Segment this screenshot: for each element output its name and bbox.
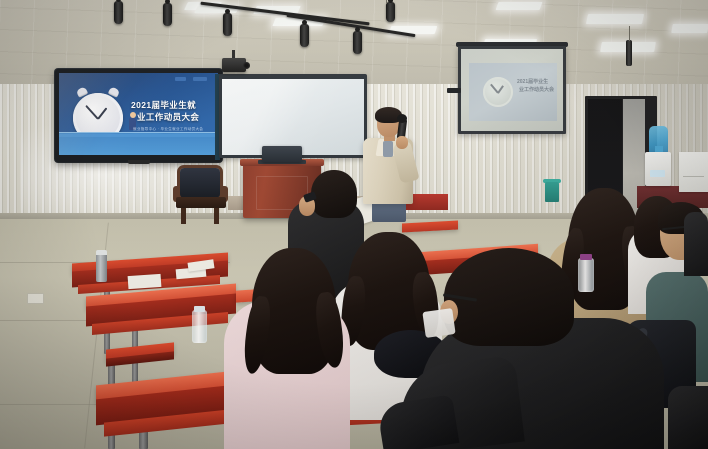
bottle-cap (580, 254, 592, 260)
water-bottle (578, 258, 594, 292)
mic-hang-wire (386, 0, 387, 4)
spotlight-fixture (114, 1, 123, 24)
microphone-head (397, 114, 407, 123)
spotlight-fixture (353, 31, 362, 54)
whiteboard-surface (222, 79, 364, 155)
bottle-cap (194, 306, 205, 312)
water-dispenser[interactable] (645, 152, 671, 186)
student-body (668, 386, 708, 449)
water-bottle (192, 310, 207, 343)
ceiling-light-panel (496, 2, 543, 10)
trash-bin (545, 182, 559, 202)
paper-sheet (128, 274, 162, 289)
projector-lens (243, 62, 250, 69)
projected-clock-graphic (483, 77, 513, 107)
student-hair (311, 170, 357, 218)
projected-title-line2: 业工作动员大会 (519, 87, 554, 94)
presenter-shirt (383, 141, 393, 157)
projection-screen: 2021届毕业生 业工作动员大会 (458, 46, 566, 134)
student-body (684, 212, 708, 276)
thermos-cap (96, 250, 107, 255)
cabinet-seam (683, 176, 704, 177)
screen-glare (59, 73, 218, 155)
screen-wall-bracket (447, 88, 461, 93)
projected-title-line1: 2021届毕业生 (517, 79, 548, 86)
whiteboard-glare (222, 79, 364, 155)
laptop[interactable] (262, 146, 302, 162)
thermos-flask (96, 252, 107, 282)
spotlight-fixture (163, 3, 172, 26)
chair-seat (176, 197, 226, 208)
ceiling-light-panel (671, 24, 708, 33)
guest-chair[interactable] (180, 168, 220, 198)
lecture-hall-photo: 2021届毕业生就 业工作动员大会 就业指导中心 · 毕业生就业工作动员大会 2… (0, 0, 708, 449)
spotlight-fixture (386, 2, 395, 22)
projected-slide: 2021届毕业生 业工作动员大会 (469, 63, 557, 121)
projection-surface: 2021届毕业生 业工作动员大会 (461, 49, 563, 131)
mic-hang-wire (629, 26, 630, 41)
chair-leg (214, 206, 219, 224)
wall-outlet (27, 293, 44, 304)
water-dispenser-tap[interactable] (650, 170, 665, 177)
presenter-hand (396, 136, 408, 149)
spotlight-fixture (300, 24, 309, 47)
flat-panel-display[interactable]: 2021届毕业生就 业工作动员大会 就业指导中心 · 毕业生就业工作动员大会 (55, 69, 222, 162)
chair-leg (181, 206, 186, 224)
spotlight-fixture (223, 13, 232, 36)
tv-mount (128, 160, 150, 164)
hanging-microphone (626, 40, 632, 66)
display-screen: 2021届毕业生就 业工作动员大会 就业指导中心 · 毕业生就业工作动员大会 (59, 73, 218, 155)
face-mask (422, 308, 455, 338)
ceiling-light-panel (586, 14, 644, 24)
storage-cabinet[interactable] (679, 152, 708, 192)
